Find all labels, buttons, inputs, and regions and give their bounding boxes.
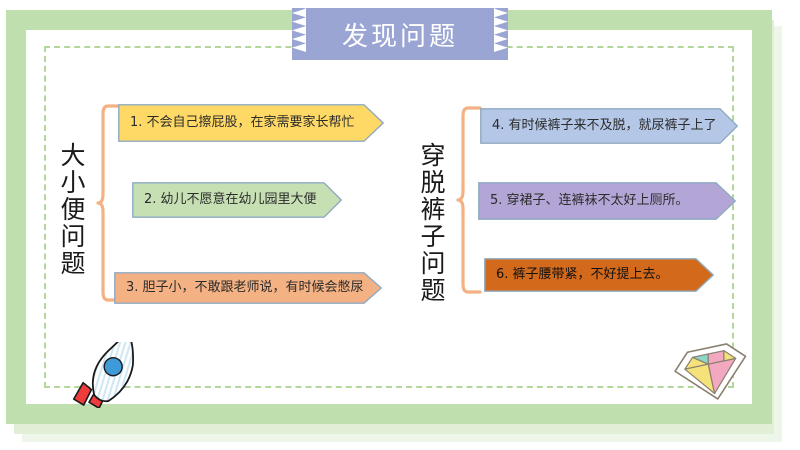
issue-item-3: 3. 胆子小，不敢跟老师说，有时候会憋尿 bbox=[114, 272, 382, 304]
slide-canvas: 发现问题 大小便问题 1. 不会自己擦屁股，在家需要家长帮忙 2. 幼儿不愿意在… bbox=[0, 0, 800, 450]
issue-text-5: 5. 穿裙子、连裤袜不太好上厕所。 bbox=[478, 192, 689, 210]
issue-text-1: 1. 不会自己擦屁股，在家需要家长帮忙 bbox=[118, 114, 355, 132]
category-label-dressing: 穿脱裤子问题 bbox=[418, 142, 444, 304]
diamond-icon bbox=[662, 338, 758, 406]
issue-item-5: 5. 穿裙子、连裤袜不太好上厕所。 bbox=[478, 182, 736, 220]
page-title: 发现问题 bbox=[342, 16, 458, 53]
issue-text-4: 4. 有时候裤子来不及脱，就尿裤子上了 bbox=[480, 117, 717, 135]
rocket-icon bbox=[52, 342, 156, 408]
issue-item-2: 2. 幼儿不愿意在幼儿园里大便 bbox=[132, 182, 342, 218]
issue-item-1: 1. 不会自己擦屁股，在家需要家长帮忙 bbox=[118, 104, 384, 142]
issue-item-4: 4. 有时候裤子来不及脱，就尿裤子上了 bbox=[480, 108, 738, 144]
category-label-toileting: 大小便问题 bbox=[58, 142, 84, 277]
issue-text-2: 2. 幼儿不愿意在幼儿园里大便 bbox=[132, 191, 317, 209]
ribbon-zigzag-left-icon bbox=[292, 0, 306, 52]
issue-text-6: 6. 裤子腰带紧，不好提上去。 bbox=[484, 266, 669, 284]
issue-item-6: 6. 裤子腰带紧，不好提上去。 bbox=[484, 258, 714, 292]
ribbon-zigzag-right-icon bbox=[494, 0, 508, 52]
title-ribbon: 发现问题 bbox=[292, 8, 508, 60]
issue-text-3: 3. 胆子小，不敢跟老师说，有时候会憋尿 bbox=[114, 279, 378, 297]
